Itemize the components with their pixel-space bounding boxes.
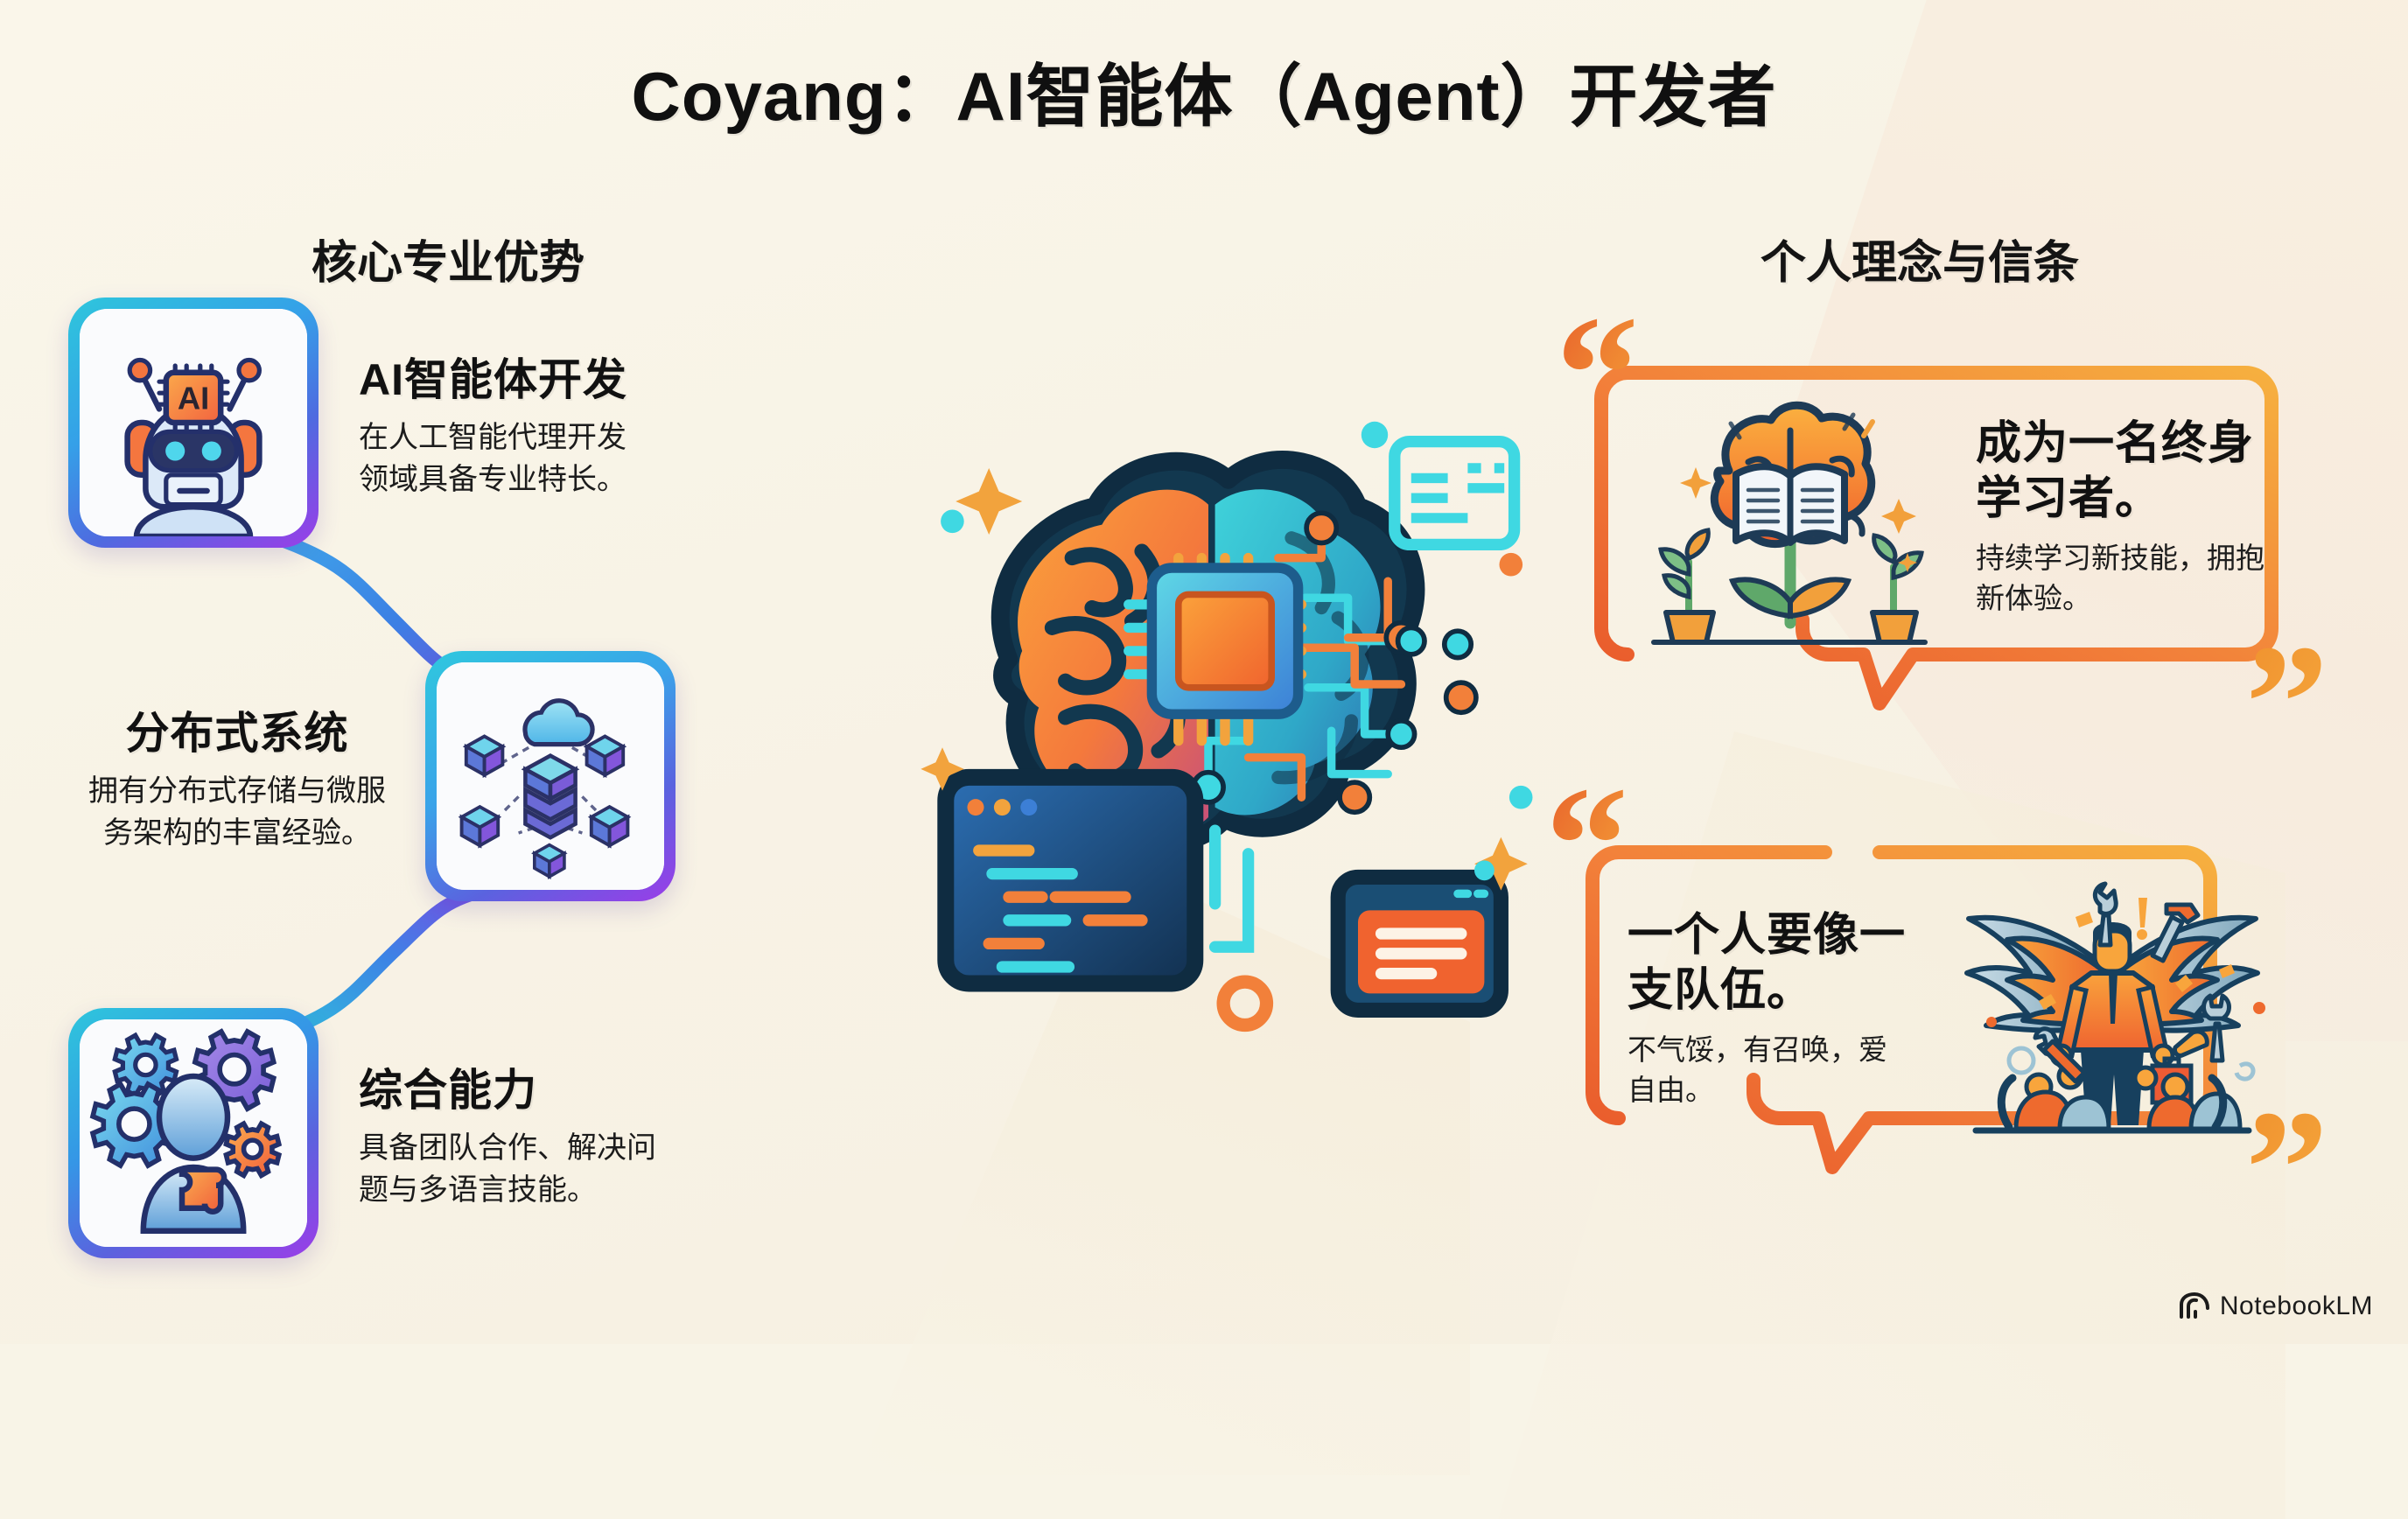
quote-open-mark-1: “ xyxy=(1556,308,1639,441)
gears-person-puzzle-icon xyxy=(80,1019,307,1247)
skill-desc-2: 拥有分布式存储与微服务架构的丰富经验。 xyxy=(86,770,388,855)
skill-title-3: 综合能力 xyxy=(359,1055,656,1118)
quote-headline-1: 成为一名终身学习者。 xyxy=(1976,416,2264,528)
notebooklm-arc-logo xyxy=(2178,1292,2211,1320)
svg-text:AI: AI xyxy=(178,380,209,416)
skills-column: AI AI智能体开发 在人工智能代理开发领域具备专业特长。 xyxy=(0,297,892,1277)
watermark: NotebookLM xyxy=(2178,1291,2373,1321)
skill-card-3[interactable]: 综合能力 具备团队合作、解决问题与多语言技能。 xyxy=(68,1008,656,1258)
skill-card-2[interactable]: 分布式系统 拥有分布式存储与微服务架构的丰富经验。 xyxy=(86,651,675,901)
skill-icon-frame-2 xyxy=(425,651,675,901)
skill-text-3: 综合能力 具备团队合作、解决问题与多语言技能。 xyxy=(359,1055,656,1212)
skill-title-1: AI智能体开发 xyxy=(359,345,647,408)
left-column-heading: 核心专业优势 xyxy=(311,226,584,291)
quote-art-2 xyxy=(1928,878,2296,1141)
skill-icon-frame-3 xyxy=(68,1008,318,1258)
skill-desc-3: 具备团队合作、解决问题与多语言技能。 xyxy=(359,1127,656,1212)
brain-book-plants-icon xyxy=(1631,387,1963,649)
center-illustration xyxy=(892,385,1557,1050)
winged-person-tools-icon xyxy=(1928,878,2296,1141)
skill-desc-1: 在人工智能代理开发领域具备专业特长。 xyxy=(359,416,647,501)
distributed-nodes-icon xyxy=(437,662,664,890)
ai-robot-icon: AI xyxy=(80,309,307,536)
quote-text-1: 成为一名终身学习者。 持续学习新技能，拥抱新体验。 xyxy=(1976,416,2264,620)
skill-card-1[interactable]: AI AI智能体开发 在人工智能代理开发领域具备专业特长。 xyxy=(68,297,647,548)
quote-art-1 xyxy=(1631,387,1963,649)
quote-desc-1: 持续学习新技能，拥抱新体验。 xyxy=(1976,538,2264,620)
quote-open-mark-2: “ xyxy=(1545,779,1628,912)
quote-card-1[interactable]: “ ” xyxy=(1575,332,2327,744)
ai-brain-circuit-icon xyxy=(892,385,1557,1050)
skill-text-2: 分布式系统 拥有分布式存储与微服务架构的丰富经验。 xyxy=(86,698,388,855)
skill-icon-frame-1: AI xyxy=(68,297,318,548)
quote-headline-2: 一个人要像一支队伍。 xyxy=(1627,908,1907,1019)
right-column-heading: 个人理念与信条 xyxy=(1760,226,2079,291)
quote-text-2: 一个人要像一支队伍。 不气馁，有召唤，爱自由。 xyxy=(1627,908,1907,1112)
skill-text-1: AI智能体开发 在人工智能代理开发领域具备专业特长。 xyxy=(359,345,647,501)
quote-card-2[interactable]: “ ” 一个人要像一支队伍。 不气馁，有召唤，爱自由。 xyxy=(1566,814,2327,1207)
skill-title-2: 分布式系统 xyxy=(86,698,388,761)
quote-close-mark-1: ” xyxy=(2245,637,2328,770)
page-title: Coyang：AI智能体（Agent）开发者 xyxy=(0,42,2408,140)
quote-desc-2: 不气馁，有召唤，爱自由。 xyxy=(1627,1030,1907,1112)
watermark-label: NotebookLM xyxy=(2220,1291,2373,1321)
